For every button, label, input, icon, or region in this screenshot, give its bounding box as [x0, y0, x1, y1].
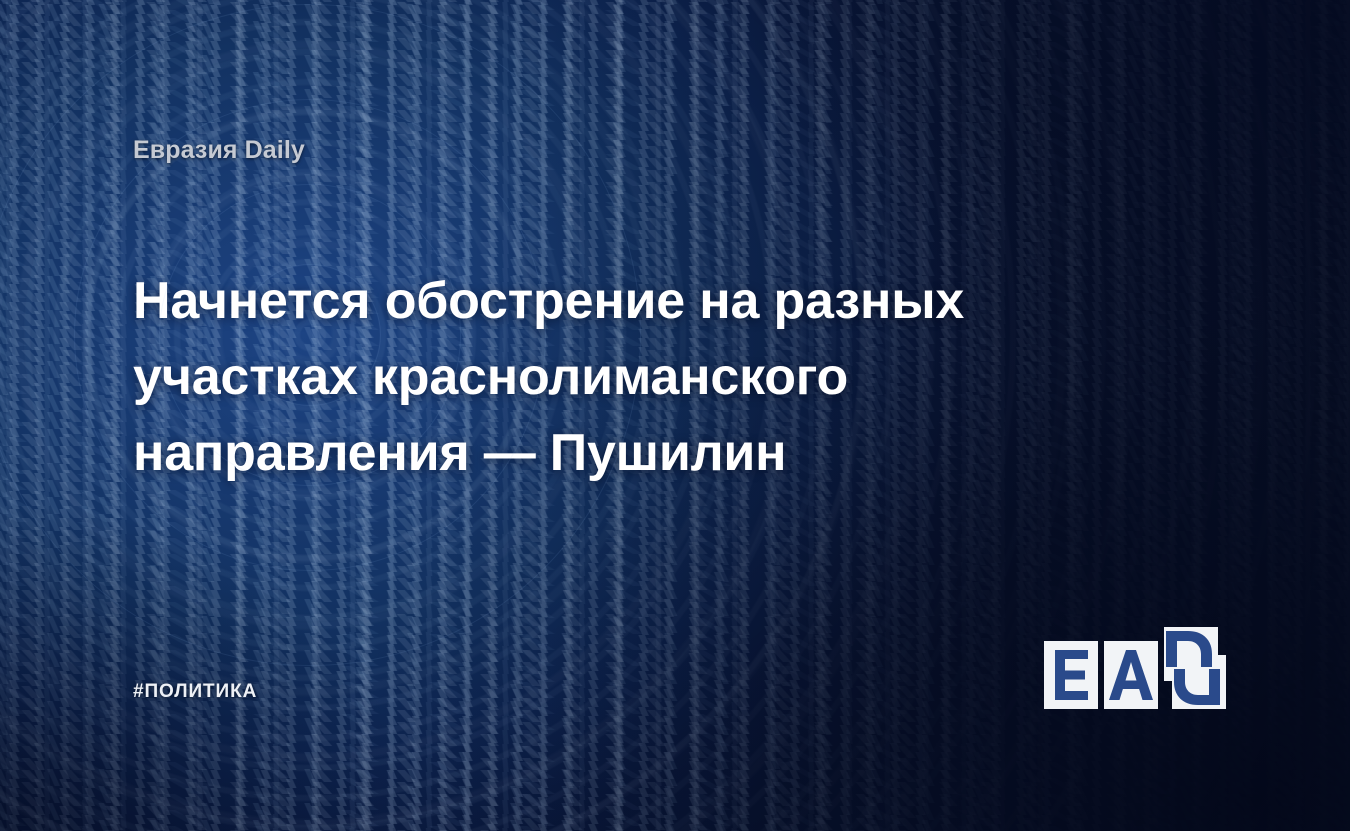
logo-letter-d-icon — [1162, 627, 1228, 709]
logo-letter-e-icon — [1044, 641, 1098, 709]
logo-letter-a-icon — [1104, 641, 1158, 709]
eadaily-logo[interactable] — [1044, 627, 1226, 709]
news-card: Евразия Daily Начнется обострение на раз… — [0, 0, 1350, 831]
category-tag[interactable]: #ПОЛИТИКА — [133, 681, 257, 703]
star-trail-arc — [0, 4, 641, 666]
